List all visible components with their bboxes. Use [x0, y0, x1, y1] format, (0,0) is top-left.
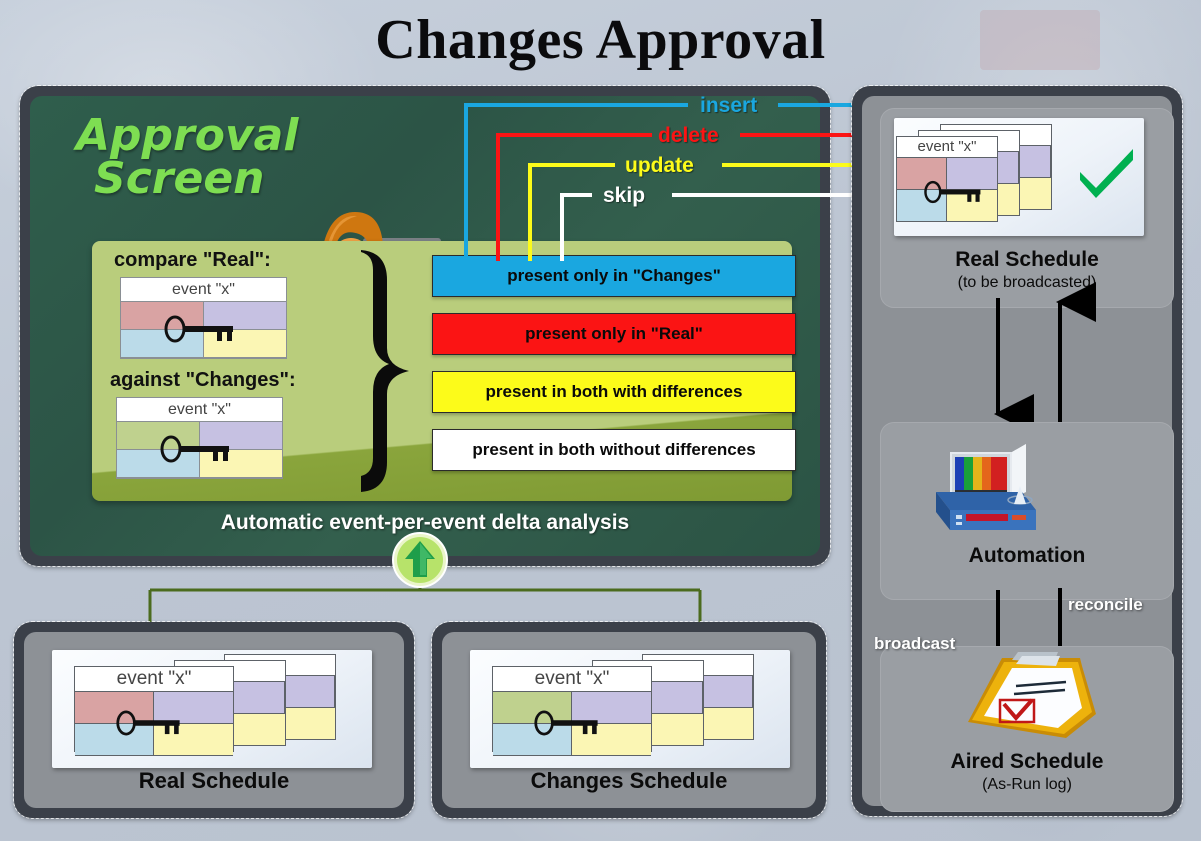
stack-cell-green — [493, 692, 572, 724]
real-schedule-source-panel: event "x" Real Schedule — [14, 622, 414, 818]
stack-card-body — [897, 158, 997, 222]
stack-cell-yellow — [947, 190, 997, 222]
upload-up-arrow-badge-icon — [392, 532, 448, 588]
clipboard-asrun-icon — [954, 652, 1104, 744]
legend-label: present only in "Changes" — [507, 266, 721, 286]
approval-title-line2: Screen — [76, 157, 316, 200]
event-card-grid — [117, 422, 282, 478]
changes-schedule-source-title: Changes Schedule — [442, 768, 816, 794]
stack-cell-yellow — [572, 724, 651, 756]
stack-card-header: event "x" — [75, 667, 233, 692]
event-cell-pink — [121, 302, 204, 330]
event-card-changes: event "x" — [116, 397, 283, 479]
broadcast-chain-panel: event "x" Real Schedule (to be bro — [852, 86, 1182, 816]
event-card-header: event "x" — [121, 278, 286, 302]
stack-card-header: event "x" — [493, 667, 651, 692]
flow-label-update: update — [625, 154, 694, 178]
event-cell-blue — [117, 450, 200, 478]
changes-schedule-source-panel: event "x" Changes Schedule — [432, 622, 826, 818]
against-changes-label: against "Changes": — [110, 369, 296, 392]
legend-item-update: present in both with differences — [432, 371, 796, 413]
legend-item-delete: present only in "Real" — [432, 313, 796, 355]
reconcile-flow-label: reconcile — [1068, 595, 1143, 615]
legend-label: present in both with differences — [486, 382, 743, 402]
real-schedule-source-title: Real Schedule — [24, 768, 404, 794]
event-card-real: event "x" — [120, 277, 287, 359]
aired-schedule-card: Aired Schedule (As-Run log) — [880, 646, 1174, 812]
approved-check-icon — [1076, 146, 1138, 198]
changes-schedule-source-inner: event "x" Changes Schedule — [442, 632, 816, 808]
real-schedule-title: Real Schedule — [880, 248, 1174, 272]
stack-card-body — [75, 692, 233, 756]
automation-playout-icon — [926, 434, 1046, 538]
stack-cell-pink — [75, 692, 154, 724]
legend-label: present in both without differences — [472, 440, 755, 460]
event-cell-lavender — [200, 422, 283, 450]
stack-card-body — [493, 692, 651, 756]
stack-cell-lavender — [947, 158, 997, 190]
compare-real-label: compare "Real": — [114, 249, 271, 272]
stack-cell-blue — [75, 724, 154, 756]
automation-title: Automation — [880, 544, 1174, 568]
flow-label-delete: delete — [658, 124, 719, 148]
schedule-stack-card-front: event "x" — [74, 666, 234, 752]
event-cell-blue — [121, 330, 204, 358]
legend-item-insert: present only in "Changes" — [432, 255, 796, 297]
event-cell-lavender — [204, 302, 287, 330]
flow-label-skip: skip — [603, 184, 645, 208]
stack-cell-pink — [897, 158, 947, 190]
real-schedule-card: event "x" Real Schedule (to be bro — [880, 108, 1174, 308]
schedule-stack-card-front: event "x" — [492, 666, 652, 752]
event-cell-green — [117, 422, 200, 450]
real-schedule-source-inner: event "x" Real Schedule — [24, 632, 404, 808]
flow-label-insert: insert — [700, 94, 757, 118]
aired-schedule-subtitle: (As-Run log) — [880, 776, 1174, 794]
event-card-grid — [121, 302, 286, 358]
broadcast-flow-label: broadcast — [874, 634, 955, 654]
schedule-to-automation-arrows — [972, 296, 1082, 428]
broadcast-chain-inner: event "x" Real Schedule (to be bro — [862, 96, 1172, 806]
real-schedule-subtitle: (to be broadcasted) — [880, 274, 1174, 292]
delta-analysis-panel: compare "Real": event "x" against "Chang… — [92, 241, 792, 501]
curly-brace-icon — [347, 246, 417, 496]
schedule-stack-card-front: event "x" — [896, 136, 998, 222]
approval-screen-title: Approval Screen — [76, 114, 316, 200]
stack-cell-yellow — [154, 724, 233, 756]
event-cell-yellow — [204, 330, 287, 358]
stack-cell-lavender — [572, 692, 651, 724]
legend-item-skip: present in both without differences — [432, 429, 796, 471]
stack-card-header: event "x" — [897, 137, 997, 158]
flow-arrow-labels: insert delete update skip — [440, 86, 920, 226]
stack-cell-blue — [493, 724, 572, 756]
page-title: Changes Approval — [0, 8, 1201, 72]
stack-cell-blue — [897, 190, 947, 222]
event-card-header: event "x" — [117, 398, 282, 422]
automation-card: Automation — [880, 422, 1174, 600]
legend-label: present only in "Real" — [525, 324, 703, 344]
event-cell-yellow — [200, 450, 283, 478]
stack-cell-lavender — [154, 692, 233, 724]
aired-schedule-title: Aired Schedule — [880, 750, 1174, 774]
